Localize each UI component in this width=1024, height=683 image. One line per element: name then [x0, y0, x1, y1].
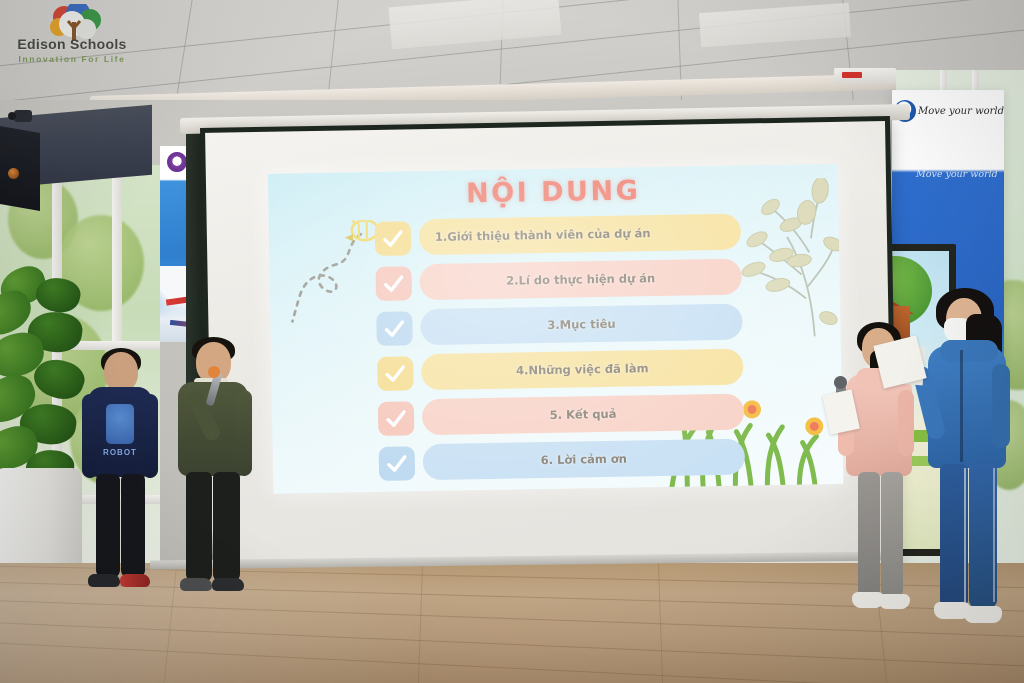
logo-tagline: Innovation For Life [6, 54, 138, 64]
tree-logo-icon [48, 4, 104, 40]
smoke-detector-icon [834, 68, 896, 84]
agenda-item: 3.Mục tiêu [376, 304, 697, 350]
robot-graphic-icon [106, 404, 134, 444]
agenda-list: 1.Giới thiệu thành viên của dự án 2.Lí d… [375, 214, 700, 490]
agenda-item: 2.Lí do thực hiện dự án [375, 259, 696, 305]
agenda-item: 6. Lời cảm ơn [379, 439, 700, 485]
logo-title: Edison Schools [6, 36, 138, 52]
agenda-item-label: 3.Mục tiêu [420, 304, 743, 346]
agenda-item-label: 2.Lí do thực hiện dự án [419, 259, 742, 301]
checkbox-checked-icon [376, 311, 413, 346]
checkbox-checked-icon [379, 446, 416, 481]
projector-body [0, 126, 40, 211]
camera-icon [14, 110, 32, 122]
agenda-item: 1.Giới thiệu thành viên của dự án [375, 214, 696, 260]
banner-logo-1-icon [167, 152, 187, 172]
agenda-item-label: 1.Giới thiệu thành viên của dự án [419, 214, 742, 256]
agenda-item-label: 6. Lời cảm ơn [423, 439, 746, 481]
agenda-item: 4.Những việc đã làm [377, 349, 698, 395]
agenda-item-label: 4.Những việc đã làm [421, 349, 744, 391]
checkbox-checked-icon [377, 356, 414, 391]
projection-screen: NỘI DUNG 1.Giới thiệu thành viên của dự … [200, 116, 898, 598]
projector-lens-icon [8, 168, 19, 179]
checkbox-checked-icon [375, 221, 412, 256]
photo-scene: Move your world Move your world [0, 0, 1024, 683]
checkbox-checked-icon [375, 266, 412, 301]
student-boy-navy-sweater: ROBOT [80, 352, 160, 600]
edison-schools-logo: Edison Schools Innovation For Life [4, 2, 138, 72]
student-boy-olive-sweater [170, 342, 256, 604]
agenda-item-label: 5. Kết quả [422, 394, 745, 436]
bee-icon [283, 220, 385, 332]
presentation-slide: NỘI DUNG 1.Giới thiệu thành viên của dự … [268, 164, 843, 494]
right-banner-text: Move your world [918, 106, 1004, 117]
student-girl-blue-tracksuit [920, 288, 1024, 658]
sweater-graphic-text: ROBOT [94, 448, 146, 457]
right-banner-text-2: Move your world [916, 169, 1004, 180]
agenda-item: 5. Kết quả [378, 394, 699, 440]
checkbox-checked-icon [378, 401, 415, 436]
